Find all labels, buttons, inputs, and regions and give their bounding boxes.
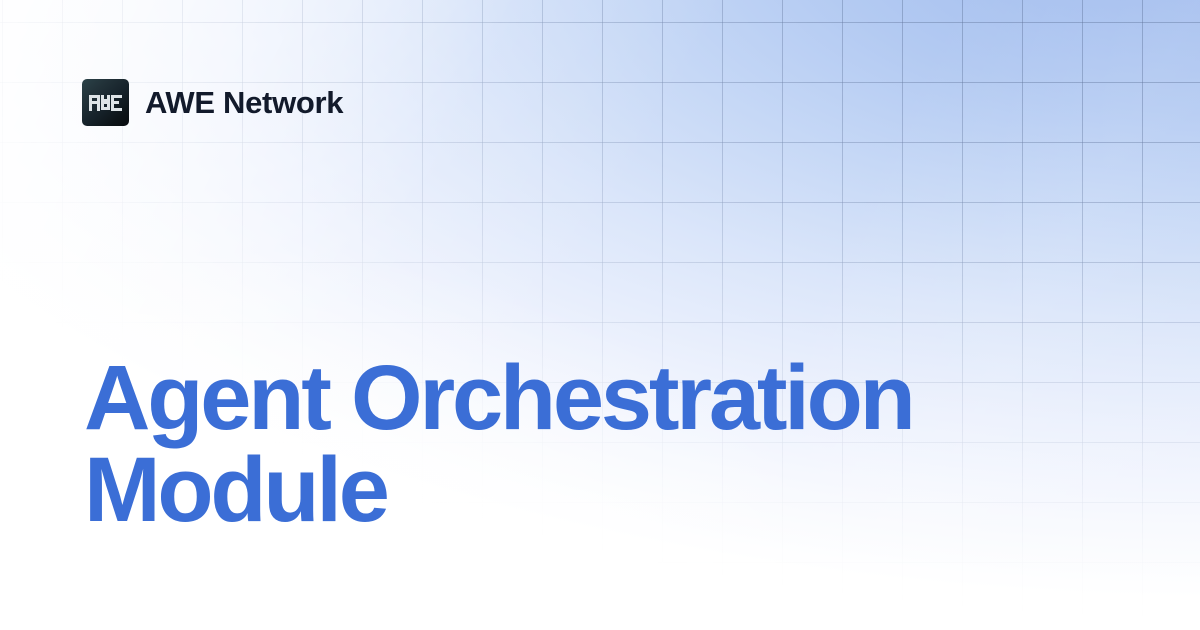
card-content: AWE Network Agent Orchestration Module [0,0,1200,630]
brand-lockup: AWE Network [82,79,343,126]
awe-logo-mark-icon [82,79,129,126]
og-card: AWE Network Agent Orchestration Module [0,0,1200,630]
brand-name: AWE Network [145,87,343,118]
page-title: Agent Orchestration Module [84,352,1084,536]
